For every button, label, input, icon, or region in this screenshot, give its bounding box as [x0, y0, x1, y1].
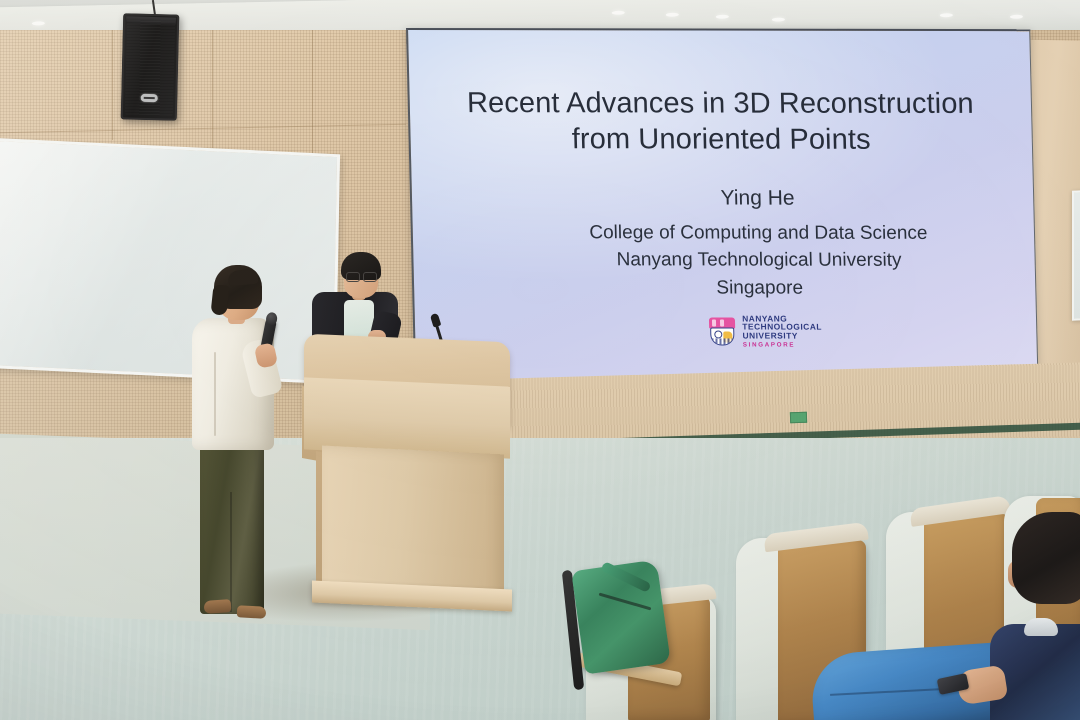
downlight-icon	[940, 13, 953, 17]
presenter-speaking-shoe-right	[237, 605, 267, 619]
presenter-speaking-fringe	[227, 269, 258, 287]
slide-title-line-2: from Unoriented Points	[441, 122, 1002, 159]
lectern-body	[322, 446, 504, 605]
glasses-icon	[346, 272, 378, 280]
whiteboard	[0, 138, 340, 385]
audience-member-head	[1012, 512, 1080, 604]
wall-seam	[112, 30, 113, 140]
audience-member-collar	[1024, 618, 1058, 636]
whiteboard-glare	[0, 141, 337, 381]
ntu-crest-icon	[707, 316, 738, 346]
presenter-speaking-trousers	[200, 432, 264, 614]
downlight-icon	[666, 13, 679, 17]
slide-affiliation-line-3: Singapore	[590, 274, 929, 302]
wall-seam	[312, 30, 313, 154]
slide-affiliation: College of Computing and Data Science Na…	[589, 219, 929, 302]
ntu-logo-line-3: UNIVERSITY	[742, 332, 822, 341]
downlight-icon	[612, 11, 625, 15]
downlight-icon	[716, 15, 729, 19]
slide-title: Recent Advances in 3D Reconstruction fro…	[440, 86, 1002, 159]
wooden-lectern	[296, 330, 516, 610]
slide-author: Ying He	[720, 186, 795, 210]
wall-seam	[212, 30, 213, 148]
ntu-logo-line-4: SINGAPORE	[743, 342, 823, 349]
blouse-fold	[214, 352, 216, 436]
small-whiteboard	[1072, 189, 1080, 321]
downlight-icon	[32, 21, 45, 25]
ntu-logo: NANYANG TECHNOLOGICAL UNIVERSITY SINGAPO…	[707, 314, 822, 349]
green-wall-plate	[790, 412, 807, 423]
slide-title-line-1: Recent Advances in 3D Reconstruction	[440, 86, 1001, 123]
wall-mounted-loudspeaker	[121, 13, 180, 120]
lecture-hall-photo: Recent Advances in 3D Reconstruction fro…	[0, 0, 1080, 720]
presenter-speaking-shoe-left	[204, 599, 232, 614]
speaker-brand-badge	[141, 94, 158, 102]
ntu-logo-text: NANYANG TECHNOLOGICAL UNIVERSITY SINGAPO…	[742, 314, 822, 349]
downlight-icon	[1010, 15, 1023, 19]
downlight-icon	[772, 17, 785, 21]
slide-affiliation-line-1: College of Computing and Data Science	[589, 219, 928, 247]
slide-affiliation-line-2: Nanyang Technological University	[590, 247, 929, 275]
